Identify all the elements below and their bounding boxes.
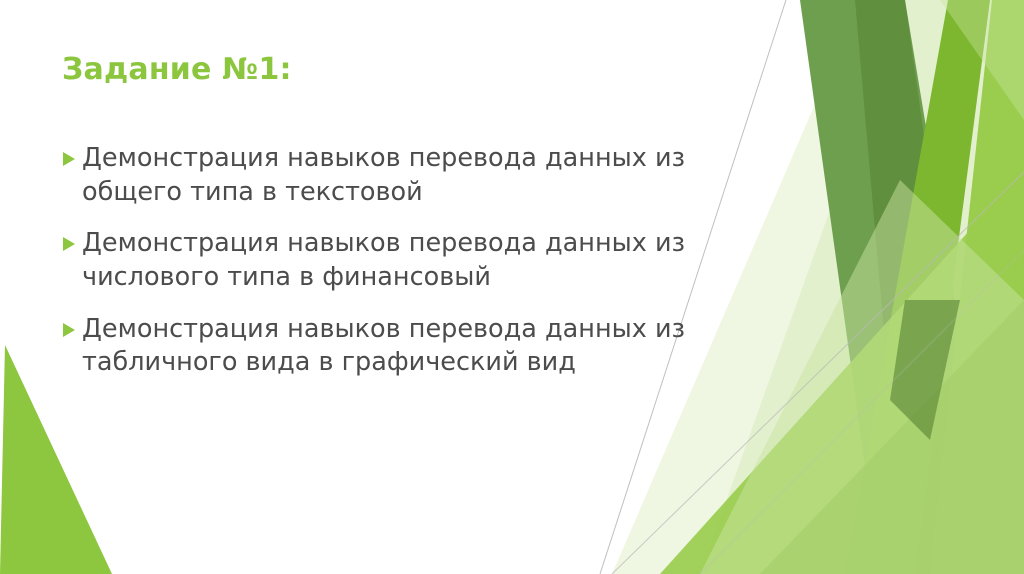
- bullet-list: Демонстрация навыков перевода данных из …: [62, 142, 762, 398]
- ribbon-medium-green: [800, 0, 1000, 574]
- list-item-label: Демонстрация навыков перевода данных из …: [82, 142, 762, 209]
- presentation-slide: Задание №1: Демонстрация навыков перевод…: [0, 0, 1024, 574]
- slide-title: Задание №1:: [62, 52, 292, 87]
- ribbon-dark-olive: [855, 0, 985, 574]
- list-item-label: Демонстрация навыков перевода данных из …: [82, 227, 762, 294]
- triangle-bullet-icon: [62, 236, 76, 252]
- triangle-bullet-icon: [62, 151, 76, 167]
- ribbon-light-green: [930, 0, 1024, 574]
- list-item-label: Демонстрация навыков перевода данных из …: [82, 313, 762, 380]
- ribbon-bright-green: [845, 0, 990, 574]
- ribbon-dark-accent: [890, 300, 960, 440]
- list-item: Демонстрация навыков перевода данных из …: [62, 313, 762, 380]
- ribbon-top-pale: [940, 0, 1024, 120]
- ribbon-lower-medium: [760, 300, 1024, 574]
- triangle-bullet-icon: [62, 322, 76, 338]
- list-item: Демонстрация навыков перевода данных из …: [62, 227, 762, 294]
- list-item: Демонстрация навыков перевода данных из …: [62, 142, 762, 209]
